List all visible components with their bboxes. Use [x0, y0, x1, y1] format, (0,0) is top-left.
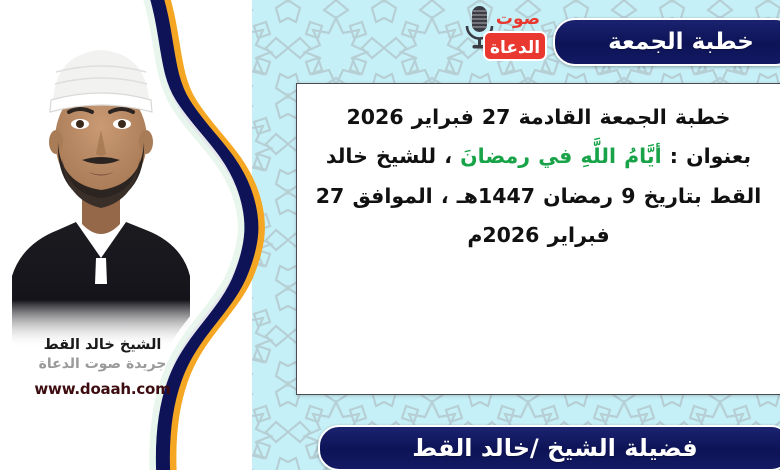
portrait-caption: الشيخ خالد القط جريدة صوت الدعاة www.doa…: [0, 336, 205, 398]
announcement-text: خطبة الجمعة القادمة 27 فبراير 2026 بعنوا…: [311, 98, 766, 255]
caption-newspaper: جريدة صوت الدعاة: [0, 355, 205, 374]
bottom-banner-label: فضيلة الشيخ /خالد القط: [412, 434, 698, 462]
logo-word-top: صوت: [496, 9, 540, 29]
caption-sheikh-name: الشيخ خالد القط: [0, 336, 205, 354]
text-line-2-title: أيَّامُ اللَّهِ في: [538, 144, 661, 168]
announcement-card: خطبة الجمعة القادمة 27 فبراير 2026 بعنوا…: [296, 83, 780, 395]
text-line-4-date-hijri: بتاريخ 9 رمضان 1447هـ ، الموافق: [352, 184, 701, 208]
brand-logo[interactable]: صوت الدعاة: [458, 2, 550, 64]
top-banner: خطبة الجمعة: [553, 18, 780, 66]
caption-website[interactable]: www.doaah.com: [0, 380, 205, 398]
khutbah-announcement-poster: الشيخ خالد القط جريدة صوت الدعاة www.doa…: [0, 0, 780, 470]
sheikh-portrait: [6, 8, 196, 348]
text-line-3-title-cont: رمضانَ: [460, 144, 530, 168]
logo-word-bottom: الدعاة: [490, 38, 540, 58]
top-banner-label: خطبة الجمعة: [596, 29, 754, 55]
text-line-1: خطبة الجمعة القادمة 27 فبراير: [412, 105, 731, 129]
bottom-banner: فضيلة الشيخ /خالد القط: [318, 425, 780, 470]
